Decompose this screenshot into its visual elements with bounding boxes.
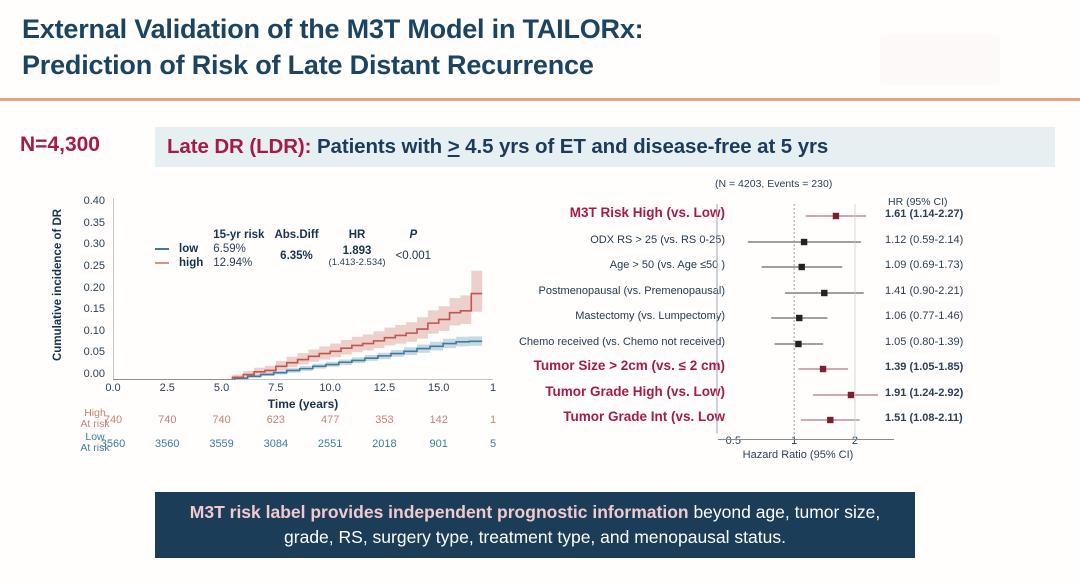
forest-x-tick: 0.5 bbox=[726, 435, 741, 447]
forest-point-marker bbox=[833, 213, 839, 219]
forest-row: Tumor Grade Int (vs. Low1.51 (1.08-2.11) bbox=[490, 408, 1070, 434]
km-x-tick: 15.0 bbox=[428, 382, 449, 394]
forest-row-label: Tumor Grade High (vs. Low) bbox=[545, 384, 725, 399]
legend-hr-cell: 1.893 (1.413-2.534) bbox=[324, 242, 391, 270]
forest-sample-header: (N = 4203, Events = 230) bbox=[715, 178, 832, 190]
forest-axis: 0.512 Hazard Ratio (95% CI) bbox=[718, 433, 893, 461]
forest-x-axis-label: Hazard Ratio (95% CI) bbox=[718, 449, 878, 461]
forest-row-plot bbox=[718, 332, 878, 358]
at-risk-value: 2551 bbox=[318, 438, 342, 450]
at-risk-row-high: High At risk 7407407406234773531421 bbox=[55, 412, 515, 436]
conclusion-text: M3T risk label provides independent prog… bbox=[155, 500, 915, 551]
km-y-tick: 0.15 bbox=[84, 303, 105, 315]
at-risk-value: 740 bbox=[104, 414, 122, 426]
legend-line-high-icon bbox=[155, 262, 169, 264]
forest-row-label: Postmenopausal (vs. Premenopausal) bbox=[539, 285, 725, 297]
km-col-p: P bbox=[391, 228, 437, 242]
forest-row: Chemo received (vs. Chemo not received)1… bbox=[490, 332, 1070, 358]
forest-point-marker bbox=[821, 289, 827, 295]
forest-x-axis-ticks: 0.512 bbox=[718, 433, 893, 449]
forest-point-marker bbox=[848, 391, 854, 397]
km-ci-band-high bbox=[113, 271, 482, 380]
forest-hr-value: 1.41 (0.90-2.21) bbox=[885, 285, 963, 297]
forest-row: M3T Risk High (vs. Low)1.61 (1.14-2.27) bbox=[490, 204, 1070, 230]
forest-row-plot bbox=[718, 204, 878, 230]
sample-size-label: N=4,300 bbox=[20, 133, 100, 157]
page-title: External Validation of the M3T Model in … bbox=[22, 12, 922, 84]
forest-row-label: Chemo received (vs. Chemo not received) bbox=[519, 336, 725, 348]
km-x-tick: 5.0 bbox=[214, 382, 229, 394]
at-risk-row-low: Low At risk 3560356035593084255120189015 bbox=[55, 436, 515, 460]
km-chart-panel: Cumulative incidence of DR 0.400.350.300… bbox=[55, 190, 515, 465]
km-x-tick: 10.0 bbox=[319, 382, 340, 394]
at-risk-value: 3560 bbox=[101, 438, 125, 450]
at-risk-value: 740 bbox=[212, 414, 230, 426]
km-legend-table: 15-yr risk Abs.Diff HR P low 6.59% 6.35%… bbox=[150, 228, 436, 270]
at-risk-value: 623 bbox=[267, 414, 285, 426]
km-x-axis-label: Time (years) bbox=[113, 397, 493, 411]
slide: External Validation of the M3T Model in … bbox=[0, 0, 1080, 586]
at-risk-value: 3559 bbox=[209, 438, 233, 450]
title-line-2: Prediction of Risk of Late Distant Recur… bbox=[22, 48, 922, 84]
ldr-banner-part2: 4.5 yrs of ET and disease-free at 5 yrs bbox=[460, 135, 829, 158]
forest-row-label: ODX RS > 25 (vs. RS 0-25) bbox=[590, 234, 725, 246]
forest-row-plot bbox=[718, 306, 878, 332]
conclusion-banner: M3T risk label provides independent prog… bbox=[155, 492, 915, 558]
ldr-banner-symbol: > bbox=[448, 135, 460, 158]
km-y-tick: 0.10 bbox=[84, 325, 105, 337]
forest-plot-panel: (N = 4203, Events = 230) HR (95% CI) M3T… bbox=[490, 178, 1070, 478]
forest-hr-value: 1.05 (0.80-1.39) bbox=[885, 336, 963, 348]
forest-row-plot bbox=[718, 281, 878, 307]
forest-row-label: Age > 50 (vs. Age ≤50 ) bbox=[610, 259, 725, 271]
km-col-absdiff: Abs.Diff bbox=[269, 228, 323, 242]
title-line-1: External Validation of the M3T Model in … bbox=[22, 12, 922, 48]
forest-row: Tumor Size > 2cm (vs. ≤ 2 cm)1.39 (1.05-… bbox=[490, 357, 1070, 383]
ldr-definition-banner: Late DR (LDR): Patients with > 4.5 yrs o… bbox=[155, 127, 1055, 167]
forest-row: Tumor Grade High (vs. Low)1.91 (1.24-2.9… bbox=[490, 383, 1070, 409]
km-x-tick: 0.0 bbox=[105, 382, 120, 394]
at-risk-value: 477 bbox=[321, 414, 339, 426]
forest-row: Mastectomy (vs. Lumpectomy)1.06 (0.77-1.… bbox=[490, 306, 1070, 332]
forest-rows-container: M3T Risk High (vs. Low)1.61 (1.14-2.27)O… bbox=[490, 204, 1070, 434]
km-col-risk: 15-yr risk bbox=[208, 228, 269, 242]
forest-x-tick: 1 bbox=[791, 435, 797, 447]
title-divider bbox=[0, 98, 1080, 101]
km-x-tick: 12.5 bbox=[374, 382, 395, 394]
km-y-tick: 0.05 bbox=[84, 346, 105, 358]
km-curves-svg bbox=[113, 198, 493, 380]
forest-row-plot bbox=[718, 408, 878, 434]
km-x-tick: 2.5 bbox=[160, 382, 175, 394]
km-x-tick: 7.5 bbox=[268, 382, 283, 394]
forest-row: ODX RS > 25 (vs. RS 0-25)1.12 (0.59-2.14… bbox=[490, 230, 1070, 256]
forest-row-plot bbox=[718, 230, 878, 256]
legend-line-low-icon bbox=[155, 248, 169, 250]
km-y-tick: 0.25 bbox=[84, 260, 105, 272]
km-y-axis-ticks: 0.400.350.300.250.200.150.100.050.00 bbox=[67, 195, 105, 380]
km-axis-lines bbox=[113, 198, 493, 380]
ldr-banner-part1: Patients with bbox=[311, 135, 447, 158]
forest-hr-value: 1.09 (0.69-1.73) bbox=[885, 259, 963, 271]
at-risk-value: 353 bbox=[375, 414, 393, 426]
at-risk-table: High At risk 7407407406234773531421 Low … bbox=[55, 412, 515, 460]
forest-row-plot bbox=[718, 255, 878, 281]
forest-row: Age > 50 (vs. Age ≤50 )1.09 (0.69-1.73) bbox=[490, 255, 1070, 281]
legend-label-low: low bbox=[174, 242, 208, 256]
km-y-tick: 0.20 bbox=[84, 282, 105, 294]
forest-hr-value: 1.51 (1.08-2.11) bbox=[885, 412, 963, 424]
ldr-banner-text: Late DR (LDR): Patients with > 4.5 yrs o… bbox=[155, 135, 828, 159]
conclusion-emphasis: M3T risk label provides independent prog… bbox=[190, 502, 689, 522]
legend-risk-low: 6.59% bbox=[208, 242, 269, 256]
forest-row-label: Tumor Size > 2cm (vs. ≤ 2 cm) bbox=[534, 358, 725, 373]
forest-hr-value: 1.39 (1.05-1.85) bbox=[885, 361, 963, 373]
legend-p-value: <0.001 bbox=[391, 242, 437, 270]
at-risk-value: 2018 bbox=[372, 438, 396, 450]
at-risk-value: 142 bbox=[430, 414, 448, 426]
forest-row: Postmenopausal (vs. Premenopausal)1.41 (… bbox=[490, 281, 1070, 307]
km-x-axis-ticks: 0.02.55.07.510.012.515.01 bbox=[113, 382, 503, 398]
forest-row-plot bbox=[718, 357, 878, 383]
watermark bbox=[880, 35, 1000, 85]
forest-row-label: Mastectomy (vs. Lumpectomy) bbox=[575, 310, 725, 322]
forest-x-tick: 2 bbox=[852, 435, 858, 447]
at-risk-value: 901 bbox=[430, 438, 448, 450]
legend-risk-high: 12.94% bbox=[208, 256, 269, 270]
forest-point-marker bbox=[795, 340, 801, 346]
legend-hr-ci: (1.413-2.534) bbox=[329, 257, 386, 268]
at-risk-value: 740 bbox=[158, 414, 176, 426]
forest-point-marker bbox=[799, 264, 805, 270]
km-y-tick: 0.30 bbox=[84, 238, 105, 250]
forest-hr-value: 1.06 (0.77-1.46) bbox=[885, 310, 963, 322]
forest-point-marker bbox=[820, 366, 826, 372]
forest-row-label: Tumor Grade Int (vs. Low bbox=[563, 409, 725, 424]
km-y-tick: 0.40 bbox=[84, 195, 105, 207]
legend-hr-value: 1.893 bbox=[329, 245, 386, 257]
legend-label-high: high bbox=[174, 256, 208, 270]
km-y-tick: 0.00 bbox=[84, 368, 105, 380]
forest-point-marker bbox=[796, 315, 802, 321]
at-risk-value: 3084 bbox=[264, 438, 288, 450]
forest-hr-value: 1.12 (0.59-2.14) bbox=[885, 234, 963, 246]
km-y-tick: 0.35 bbox=[84, 217, 105, 229]
at-risk-value: 3560 bbox=[155, 438, 179, 450]
forest-point-marker bbox=[827, 417, 833, 423]
forest-row-plot bbox=[718, 383, 878, 409]
forest-hr-value: 1.61 (1.14-2.27) bbox=[885, 208, 963, 220]
forest-row-label: M3T Risk High (vs. Low) bbox=[570, 205, 725, 220]
forest-hr-value: 1.91 (1.24-2.92) bbox=[885, 387, 963, 399]
km-col-hr: HR bbox=[324, 228, 391, 242]
forest-point-marker bbox=[801, 238, 807, 244]
forest-label-separator bbox=[716, 204, 720, 434]
km-plot-area bbox=[113, 198, 493, 380]
ldr-banner-prefix: Late DR (LDR): bbox=[167, 135, 311, 158]
km-y-axis-label: Cumulative incidence of DR bbox=[49, 190, 67, 380]
legend-absdiff-value: 6.35% bbox=[269, 242, 323, 270]
